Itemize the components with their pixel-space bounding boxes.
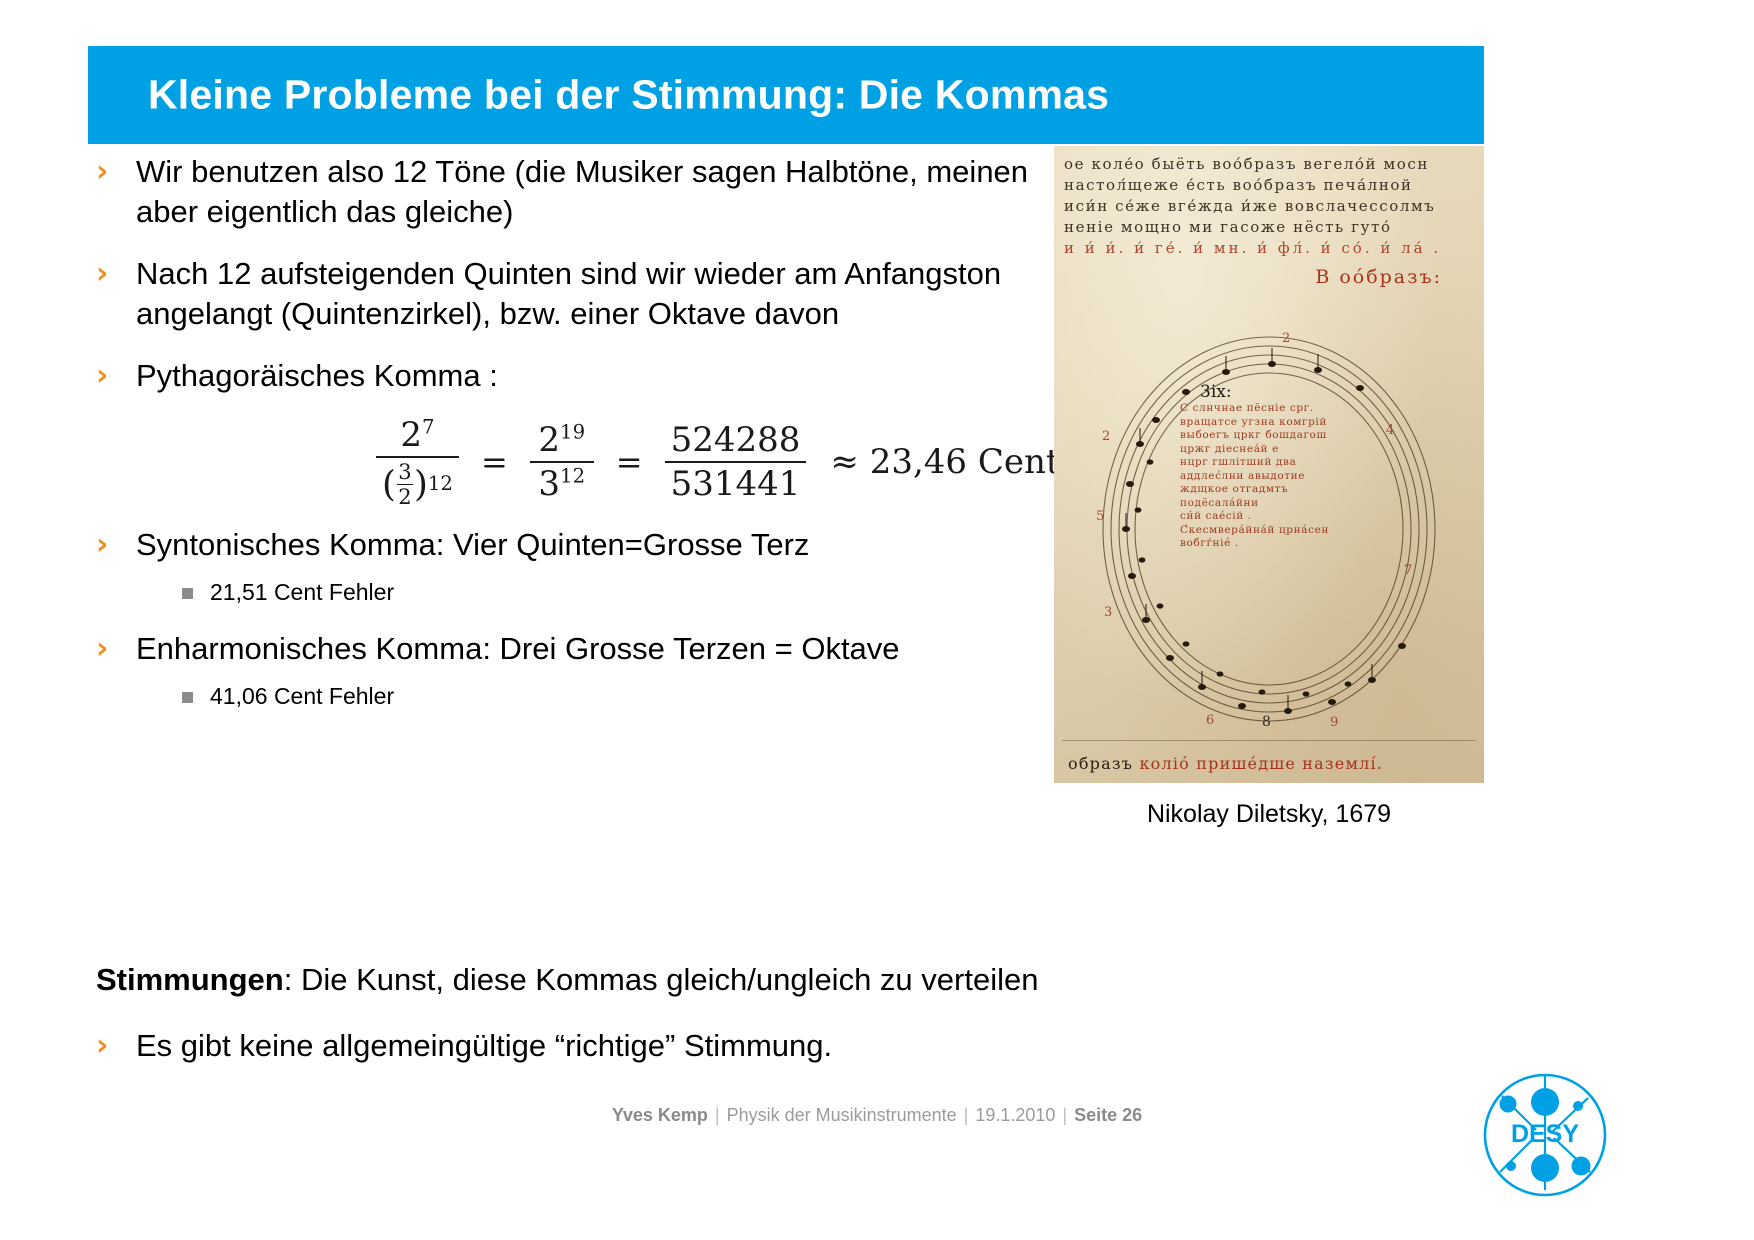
fraction-two: 219 312 bbox=[530, 419, 594, 505]
fraction-three-numerator: 524288 bbox=[665, 419, 807, 461]
list-item: › Pythagoräisches Komma : bbox=[96, 356, 1046, 396]
footer-date: 19.1.2010 bbox=[975, 1105, 1055, 1125]
desy-logo-text: DESY bbox=[1511, 1120, 1579, 1148]
manuscript-heading: В оо́бразъ: bbox=[1315, 266, 1442, 288]
footer-separator: | bbox=[1055, 1105, 1074, 1125]
manuscript-center-line: нцрг гшлітший два bbox=[1180, 456, 1360, 470]
svg-text:3: 3 bbox=[1104, 605, 1112, 620]
list-item: › Wir benutzen also 12 Töne (die Musiker… bbox=[96, 152, 1046, 232]
footer-topic: Physik der Musikinstrumente bbox=[727, 1105, 957, 1125]
approx-result: ≈ 23,46 Cent bbox=[830, 442, 1059, 482]
chevron-right-icon: › bbox=[96, 152, 136, 192]
manuscript-footer-black: образъ bbox=[1068, 754, 1133, 773]
manuscript-line: иси́н се́же вге́жда и́же вовслачессолмъ bbox=[1064, 196, 1476, 217]
fraction-one-numerator: 27 bbox=[394, 414, 440, 456]
equals-sign-two: = bbox=[616, 443, 643, 481]
list-item: › Enharmonisches Komma: Drei Grosse Terz… bbox=[96, 629, 1046, 669]
manuscript-center-line: вобгѓніе́ . bbox=[1180, 537, 1360, 551]
image-caption: Nikolay Diletsky, 1679 bbox=[1054, 800, 1484, 829]
bullet-text: Wir benutzen also 12 Töne (die Musiker s… bbox=[136, 152, 1046, 232]
sub-list-item: 41,06 Cent Fehler bbox=[182, 681, 1046, 711]
page-title: Kleine Probleme bei der Stimmung: Die Ko… bbox=[148, 72, 1109, 119]
svg-text:4: 4 bbox=[1386, 423, 1394, 438]
manuscript-text-block: ое коле́о быёть воо́бразъ вегело́й мосн … bbox=[1064, 154, 1476, 259]
summary-rest: : Die Kunst, diese Kommas gleich/ungleic… bbox=[284, 962, 1039, 997]
square-bullet-icon bbox=[182, 588, 193, 599]
footer-separator: | bbox=[957, 1105, 976, 1125]
list-item: › Es gibt keine allgemeingültige “richti… bbox=[96, 1026, 1396, 1066]
fraction-three: 524288 531441 bbox=[665, 419, 807, 505]
slide-title-banner: Kleine Probleme bei der Stimmung: Die Ko… bbox=[88, 46, 1484, 144]
manuscript-center-label: 3іх: bbox=[1200, 382, 1360, 402]
bullet-text: Nach 12 aufsteigenden Quinten sind wir w… bbox=[136, 254, 1046, 334]
bullet-list: › Wir benutzen also 12 Töne (die Musiker… bbox=[96, 152, 1046, 733]
manuscript-center-line: выбоегъ цркг бошдагош bbox=[1180, 429, 1360, 443]
fraction-one: 27 ( 3 2 )12 bbox=[376, 414, 459, 511]
list-item: › Nach 12 aufsteigenden Quinten sind wir… bbox=[96, 254, 1046, 334]
sub-list-item: 21,51 Cent Fehler bbox=[182, 577, 1046, 607]
chevron-right-icon: › bbox=[96, 356, 136, 396]
svg-text:5: 5 bbox=[1096, 509, 1104, 524]
footer-author: Yves Kemp bbox=[612, 1105, 708, 1125]
svg-text:8: 8 bbox=[1262, 714, 1271, 730]
chevron-right-icon: › bbox=[96, 1026, 136, 1066]
manuscript-center-line: аддлес́лни авыдотие bbox=[1180, 470, 1360, 484]
fraction-two-denominator: 312 bbox=[532, 463, 591, 505]
chevron-right-icon: › bbox=[96, 525, 136, 565]
right-paren: ) bbox=[414, 467, 428, 503]
fraction-three-denominator: 531441 bbox=[665, 463, 807, 505]
summary-text: Stimmungen: Die Kunst, diese Kommas glei… bbox=[96, 960, 1396, 1000]
manuscript-footer-text: образъ коліо́ прише́дше наземлі́. bbox=[1068, 754, 1474, 773]
inner-fraction: 3 2 bbox=[397, 460, 413, 509]
manuscript-center-line: ждщкое отгадмтъ bbox=[1180, 483, 1360, 497]
square-bullet-icon bbox=[182, 692, 193, 703]
footer-page-number: Seite 26 bbox=[1074, 1105, 1142, 1125]
svg-text:7: 7 bbox=[1404, 563, 1412, 578]
equals-sign-one: = bbox=[481, 443, 508, 481]
manuscript-center-line: цржг діеснеа́й е bbox=[1180, 443, 1360, 457]
summary-block: Stimmungen: Die Kunst, diese Kommas glei… bbox=[96, 960, 1396, 1088]
bullet-text: Pythagoräisches Komma : bbox=[136, 356, 1046, 396]
fraction-one-denominator: ( 3 2 )12 bbox=[376, 458, 459, 511]
bullet-text: Es gibt keine allgemeingültige “richtige… bbox=[136, 1026, 1396, 1066]
pythagorean-comma-formula: 27 ( 3 2 )12 = 219 312 = bbox=[366, 414, 1046, 511]
manuscript-center-line: С слнчнае пёсніе срг. bbox=[1180, 402, 1360, 416]
summary-bold-term: Stimmungen bbox=[96, 962, 284, 997]
manuscript-center-line: подёсала́йни bbox=[1180, 497, 1360, 511]
chevron-right-icon: › bbox=[96, 254, 136, 294]
sub-bullet-text: 41,06 Cent Fehler bbox=[210, 681, 394, 711]
manuscript-divider bbox=[1062, 740, 1476, 741]
sub-bullet-text: 21,51 Cent Fehler bbox=[210, 577, 394, 607]
svg-text:6: 6 bbox=[1206, 713, 1214, 728]
manuscript-image: ое коле́о быёть воо́бразъ вегело́й мосн … bbox=[1054, 146, 1484, 783]
manuscript-center-text: 3іх: С слнчнае пёсніе срг. вращатсе угзн… bbox=[1180, 382, 1360, 551]
svg-text:9: 9 bbox=[1330, 715, 1338, 730]
svg-text:2: 2 bbox=[1102, 429, 1110, 444]
chevron-right-icon: › bbox=[96, 629, 136, 669]
footer-separator: | bbox=[708, 1105, 727, 1125]
manuscript-center-line: С́кесмвера́йна́й црна́сен bbox=[1180, 524, 1360, 538]
manuscript-center-line: вращатсе угзна комгрій bbox=[1180, 416, 1360, 430]
manuscript-footer-red: коліо́ прише́дше наземлі́. bbox=[1139, 754, 1383, 773]
manuscript-line: настол́щеже е́сть воо́бразъ печа́лной bbox=[1064, 175, 1476, 196]
bullet-text: Syntonisches Komma: Vier Quinten=Grosse … bbox=[136, 525, 1046, 565]
bullet-text: Enharmonisches Komma: Drei Grosse Terzen… bbox=[136, 629, 1046, 669]
manuscript-parchment: ое коле́о быёть воо́бразъ вегело́й мосн … bbox=[1054, 146, 1484, 783]
desy-logo: DESY bbox=[1482, 1072, 1608, 1198]
left-paren: ( bbox=[382, 467, 396, 503]
svg-text:2: 2 bbox=[1282, 331, 1290, 346]
manuscript-numeral-line: и и́ и́. и́ ге́. и́ мн. и́ фл́. и́ со́. … bbox=[1064, 238, 1476, 259]
fraction-two-numerator: 219 bbox=[532, 419, 591, 461]
manuscript-line: ое коле́о быёть воо́бразъ вегело́й мосн bbox=[1064, 154, 1476, 175]
manuscript-line: неніе мощно ми гасоже нёсть гуто́ bbox=[1064, 217, 1476, 238]
list-item: › Syntonisches Komma: Vier Quinten=Gross… bbox=[96, 525, 1046, 565]
manuscript-center-line: си́й сае́сій . bbox=[1180, 510, 1360, 524]
